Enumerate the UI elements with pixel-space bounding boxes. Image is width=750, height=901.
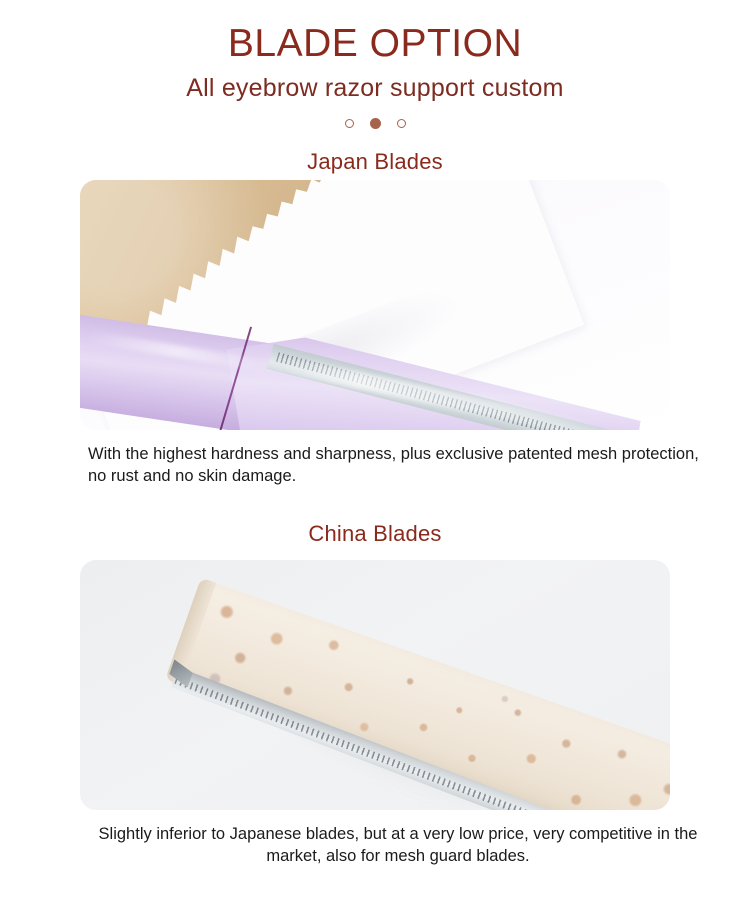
speckled-razor [153,578,670,810]
description-china-blades-text: Slightly inferior to Japanese blades, bu… [88,823,708,867]
carousel-dot-3[interactable] [397,119,406,128]
description-japan-blades-text: With the highest hardness and sharpness,… [88,443,708,487]
page-subtitle: All eyebrow razor support custom [0,72,750,104]
carousel-dot-1[interactable] [345,119,354,128]
blade-option-page: BLADE OPTION All eyebrow razor support c… [0,0,750,901]
carousel-dot-2-active[interactable] [370,118,381,129]
section-heading-japan-blades: Japan Blades [0,148,750,176]
product-image-japan-blades [80,180,670,430]
product-image-china-blades [80,560,670,810]
section-heading-china-blades: China Blades [0,520,750,548]
description-china-blades: Slightly inferior to Japanese blades, bu… [88,823,708,867]
carousel-dots [0,116,750,130]
description-japan-blades: With the highest hardness and sharpness,… [88,443,708,487]
page-header: BLADE OPTION All eyebrow razor support c… [0,0,750,130]
page-title: BLADE OPTION [0,22,750,66]
